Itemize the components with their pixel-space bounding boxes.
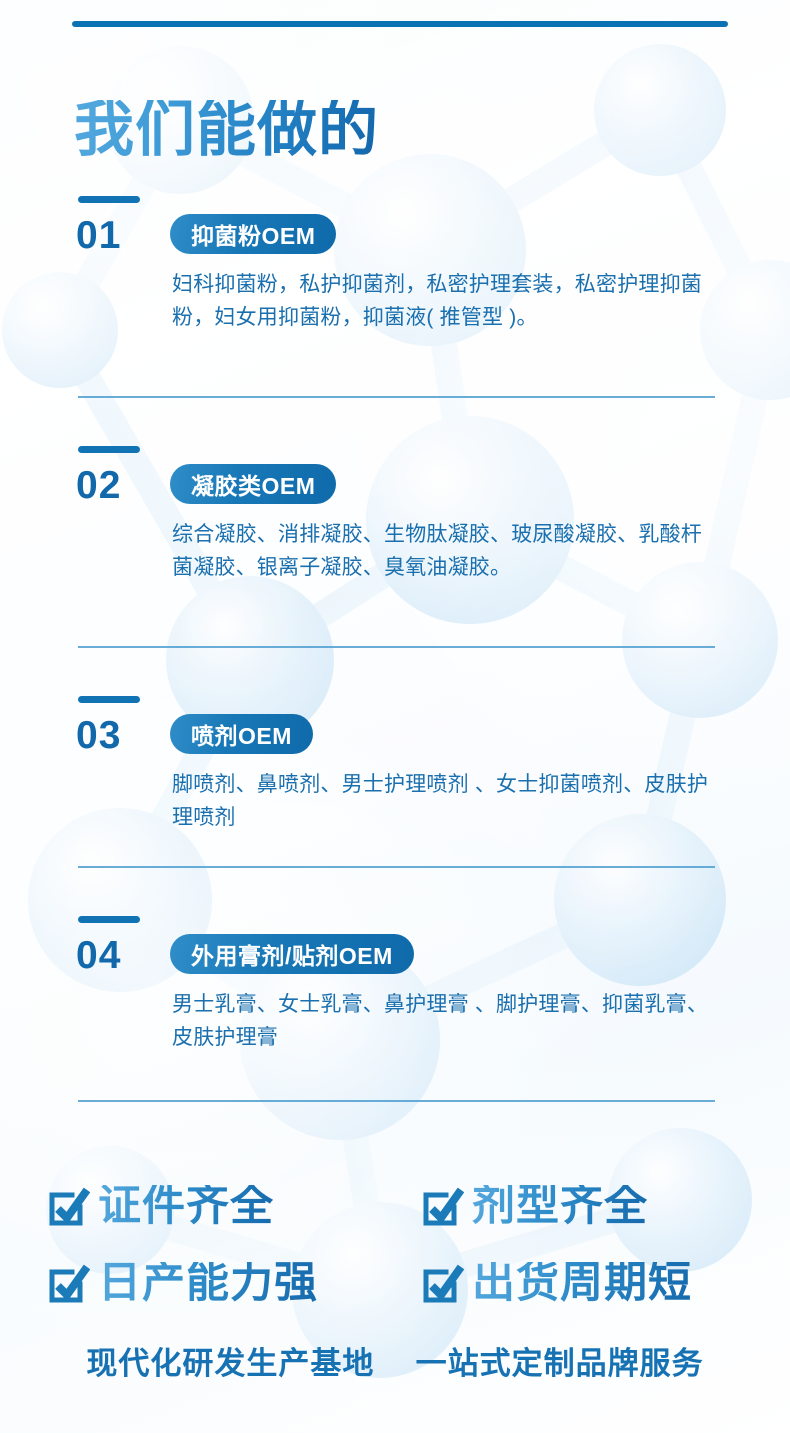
section-divider-2 [78, 646, 715, 648]
section-divider-1 [78, 396, 715, 398]
poster-content: 我们能做的 01 抑菌粉OEM 妇科抑菌粉，私护抑菌剂，私密护理套装，私密护理抑… [0, 0, 790, 1433]
footer-tagline: 现代化研发生产基地 一站式定制品牌服务 [0, 1338, 790, 1383]
section-divider-4 [78, 1100, 715, 1102]
item-badge[interactable]: 外用膏剂/贴剂OEM [170, 934, 414, 974]
item-badge[interactable]: 凝胶类OEM [170, 464, 336, 504]
item-number: 03 [76, 716, 121, 755]
checkbox-check-icon [46, 1185, 90, 1229]
item-dash-mark [78, 696, 140, 703]
feature-item-dosage-forms: 剂型齐全 [406, 1185, 758, 1229]
item-badge[interactable]: 抑菌粉OEM [170, 214, 336, 254]
item-description: 脚喷剂、鼻喷剂、男士护理喷剂 、女士抑菌喷剂、皮肤护理喷剂 [172, 768, 712, 834]
top-rule-divider [72, 21, 728, 27]
item-dash-mark [78, 196, 140, 203]
feature-item-daily-capacity: 日产能力强 [46, 1262, 406, 1306]
feature-label: 证件齐全 [98, 1185, 274, 1228]
item-badge[interactable]: 喷剂OEM [170, 714, 313, 754]
poster-page: 我们能做的 01 抑菌粉OEM 妇科抑菌粉，私护抑菌剂，私密护理套装，私密护理抑… [0, 0, 790, 1433]
item-dash-mark [78, 916, 140, 923]
feature-label: 出货周期短 [472, 1262, 692, 1305]
tagline-left: 现代化研发生产基地 [86, 1346, 374, 1381]
item-number: 02 [76, 466, 121, 505]
checkbox-check-icon [46, 1262, 90, 1306]
item-description: 妇科抑菌粉，私护抑菌剂，私密护理套装，私密护理抑菌粉，妇女用抑菌粉，抑菌液( 推… [172, 268, 712, 334]
checkbox-check-icon [420, 1185, 464, 1229]
feature-item-certificates: 证件齐全 [46, 1185, 406, 1229]
checkbox-check-icon [420, 1262, 464, 1306]
tagline-right: 一站式定制品牌服务 [416, 1346, 704, 1381]
feature-item-delivery-cycle: 出货周期短 [406, 1262, 758, 1306]
item-number: 04 [76, 936, 121, 975]
feature-grid: 证件齐全 剂型齐全 日产能力强 [46, 1168, 758, 1322]
item-description: 综合凝胶、消排凝胶、生物肽凝胶、玻尿酸凝胶、乳酸杆菌凝胶、银离子凝胶、臭氧油凝胶… [172, 518, 712, 584]
item-description: 男士乳膏、女士乳膏、鼻护理膏 、脚护理膏、抑菌乳膏、皮肤护理膏 [172, 988, 712, 1054]
item-number: 01 [76, 216, 121, 255]
item-dash-mark [78, 446, 140, 453]
section-divider-3 [78, 866, 715, 868]
feature-label: 日产能力强 [98, 1262, 318, 1305]
feature-label: 剂型齐全 [472, 1185, 648, 1228]
page-title: 我们能做的 [74, 100, 379, 160]
